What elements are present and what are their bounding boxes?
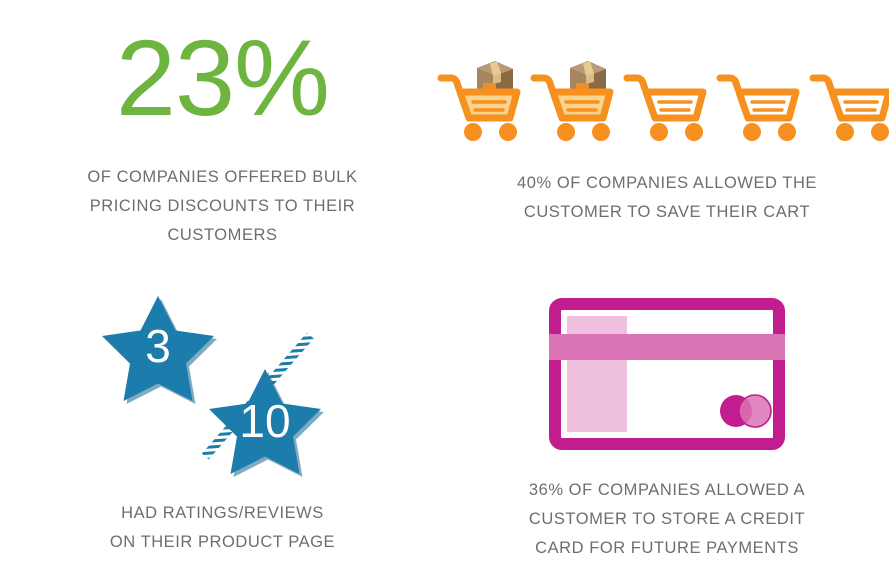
credit-card-left-panel — [567, 316, 627, 432]
stars-ratio-illustration: 3 10 — [93, 292, 353, 472]
caption-line: CUSTOMER TO STORE A CREDIT — [529, 505, 805, 534]
caption-line: OF COMPANIES OFFERED BULK — [87, 163, 357, 192]
caption-line: PRICING DISCOUNTS TO THEIR — [87, 192, 357, 221]
big-percentage-value: 23% — [116, 14, 329, 142]
caption-line: CUSTOMERS — [87, 221, 357, 250]
caption-line: HAD RATINGS/REVIEWS — [110, 499, 335, 528]
shopping-cart-filled-icon — [437, 42, 525, 142]
caption-line: CARD FOR FUTURE PAYMENTS — [529, 534, 805, 563]
shopping-cart-empty-icon — [809, 42, 889, 142]
caption-line: ON THEIR PRODUCT PAGE — [110, 528, 335, 557]
stat-caption-bulk-pricing: OF COMPANIES OFFERED BULK PRICING DISCOU… — [87, 163, 357, 250]
shopping-cart-empty-icon — [623, 42, 711, 142]
shopping-cart-empty-icon — [716, 42, 804, 142]
caption-line: CUSTOMER TO SAVE THEIR CART — [517, 198, 817, 227]
caption-line: 36% OF COMPANIES ALLOWED A — [529, 476, 805, 505]
credit-card-magnetic-stripe — [549, 334, 785, 360]
credit-card-icon — [549, 298, 785, 450]
payment-logo-circle-right — [739, 395, 771, 427]
caption-line: 40% OF COMPANIES ALLOWED THE — [517, 169, 817, 198]
stat-card-store-credit-card: 36% OF COMPANIES ALLOWED A CUSTOMER TO S… — [445, 262, 889, 569]
star-badge-numerator: 3 — [99, 292, 217, 410]
star-value-numerator: 3 — [145, 320, 171, 372]
star-badge-denominator: 10 — [206, 365, 324, 483]
stat-caption-ratings-reviews: HAD RATINGS/REVIEWS ON THEIR PRODUCT PAG… — [110, 499, 335, 557]
infographic-root: 23% OF COMPANIES OFFERED BULK PRICING DI… — [0, 0, 889, 569]
star-icon: 10 — [206, 365, 324, 478]
stat-caption-store-credit-card: 36% OF COMPANIES ALLOWED A CUSTOMER TO S… — [529, 476, 805, 563]
star-value-denominator: 10 — [239, 395, 290, 447]
stat-card-save-cart: 40% OF COMPANIES ALLOWED THE CUSTOMER TO… — [445, 0, 889, 262]
stat-card-ratings-reviews: 3 10 HAD RATINGS/REVIEWS ON THEIR PRODUC… — [0, 262, 445, 569]
stat-card-bulk-pricing: 23% OF COMPANIES OFFERED BULK PRICING DI… — [0, 0, 445, 262]
stat-caption-save-cart: 40% OF COMPANIES ALLOWED THE CUSTOMER TO… — [517, 169, 817, 227]
shopping-cart-pictogram-row — [437, 22, 889, 142]
shopping-cart-filled-icon — [530, 42, 618, 142]
star-icon: 3 — [99, 292, 217, 405]
